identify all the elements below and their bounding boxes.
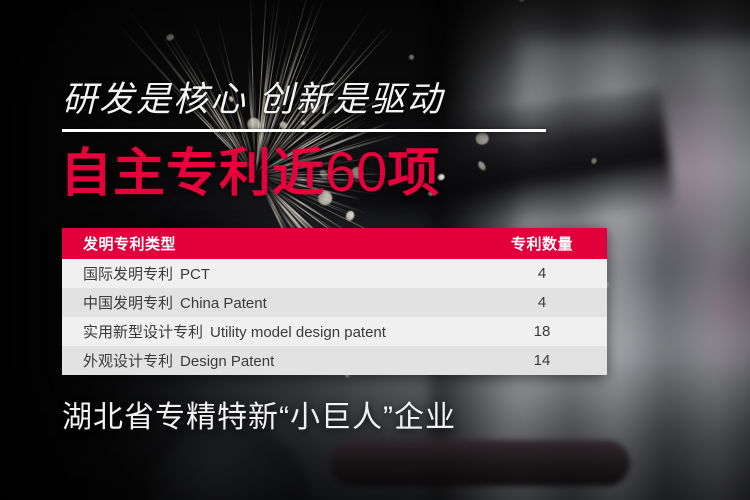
- headline-main-number: 60: [325, 140, 387, 203]
- table-row: 实用新型设计专利Utility model design patent18: [62, 317, 607, 346]
- column-header-type: 发明专利类型: [62, 233, 483, 254]
- patent-type-cn: 国际发明专利: [83, 266, 173, 283]
- patent-table-header-row: 发明专利类型 专利数量: [62, 228, 607, 259]
- patent-type-cn: 外观设计专利: [83, 353, 173, 370]
- cell-patent-type: 外观设计专利Design Patent: [62, 350, 483, 371]
- headline-main: 自主专利近60项: [60, 141, 440, 205]
- table-row: 中国发明专利China Patent4: [62, 288, 607, 317]
- patent-type-cn: 实用新型设计专利: [83, 324, 203, 341]
- cell-patent-type: 中国发明专利China Patent: [62, 292, 483, 313]
- cell-patent-count: 4: [483, 294, 607, 311]
- cell-patent-type: 实用新型设计专利Utility model design patent: [62, 321, 483, 342]
- banner-content: 研发是核心 创新是驱动 自主专利近60项 发明专利类型 专利数量 国际发明专利P…: [0, 0, 750, 500]
- patent-type-en: Utility model design patent: [210, 324, 386, 341]
- patent-type-en: China Patent: [180, 295, 267, 312]
- column-header-count: 专利数量: [483, 233, 607, 254]
- headline-main-suffix: 项: [387, 145, 440, 203]
- table-row: 外观设计专利Design Patent14: [62, 346, 607, 375]
- cell-patent-count: 18: [483, 323, 607, 340]
- promo-banner: 研发是核心 创新是驱动 自主专利近60项 发明专利类型 专利数量 国际发明专利P…: [0, 0, 750, 500]
- headline-main-prefix: 自主专利近: [60, 145, 325, 203]
- headline-divider-rule: [62, 129, 546, 132]
- patent-type-en: Design Patent: [180, 353, 274, 370]
- patent-table-body: 国际发明专利PCT4中国发明专利China Patent4实用新型设计专利Uti…: [62, 259, 607, 375]
- patent-table: 发明专利类型 专利数量 国际发明专利PCT4中国发明专利China Patent…: [62, 228, 607, 375]
- cell-patent-count: 14: [483, 352, 607, 369]
- table-row: 国际发明专利PCT4: [62, 259, 607, 288]
- cell-patent-type: 国际发明专利PCT: [62, 263, 483, 284]
- headline-subtitle: 研发是核心 创新是驱动: [62, 78, 444, 122]
- cell-patent-count: 4: [483, 265, 607, 282]
- footer-tagline: 湖北省专精特新“小巨人”企业: [62, 398, 456, 438]
- patent-type-cn: 中国发明专利: [83, 295, 173, 312]
- patent-type-en: PCT: [180, 266, 210, 283]
